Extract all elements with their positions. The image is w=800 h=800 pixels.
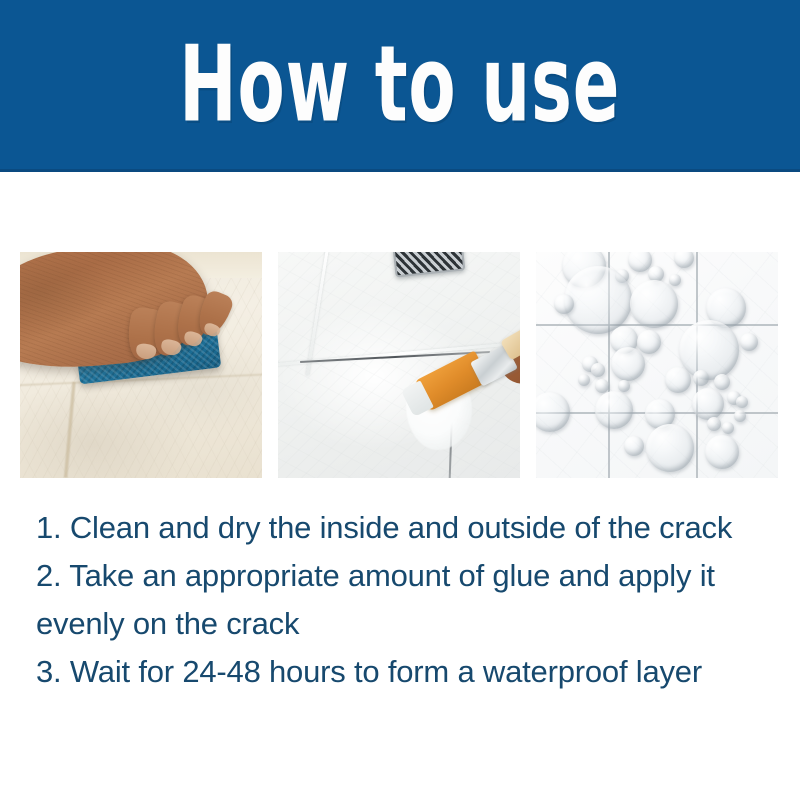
water-droplet <box>624 436 644 456</box>
water-droplet <box>722 422 734 434</box>
water-droplet <box>740 333 758 351</box>
water-droplet <box>595 391 633 429</box>
instruction-step-1: 1. Clean and dry the inside and outside … <box>36 504 756 552</box>
instruction-list: 1. Clean and dry the inside and outside … <box>36 504 756 696</box>
water-droplet <box>736 396 748 408</box>
instruction-step-3: 3. Wait for 24-48 hours to form a waterp… <box>36 648 756 696</box>
water-droplet <box>564 266 632 334</box>
header-banner: How to use <box>0 0 800 172</box>
water-droplet <box>637 330 661 354</box>
page-title: How to use <box>179 32 620 137</box>
water-droplet <box>578 374 590 386</box>
water-droplet <box>734 410 746 422</box>
water-droplet <box>705 435 739 469</box>
photo-step-2-apply-glue <box>278 252 520 478</box>
photo-step-1-clean-tile <box>20 252 262 478</box>
water-droplet <box>707 417 721 431</box>
water-droplet <box>714 374 730 390</box>
water-droplet <box>611 347 645 381</box>
instruction-step-2: 2. Take an appropriate amount of glue an… <box>36 552 756 648</box>
water-droplet <box>595 379 609 393</box>
water-droplet <box>618 380 630 392</box>
water-droplet <box>646 424 694 472</box>
water-droplet <box>591 363 605 377</box>
water-droplet <box>665 367 691 393</box>
photo-step-3-waterproof-result <box>536 252 778 478</box>
water-droplet <box>630 280 678 328</box>
water-droplet <box>692 388 724 420</box>
water-droplet <box>669 274 681 286</box>
water-droplet <box>693 370 709 386</box>
water-droplet <box>554 294 574 314</box>
photo-row <box>20 252 778 478</box>
